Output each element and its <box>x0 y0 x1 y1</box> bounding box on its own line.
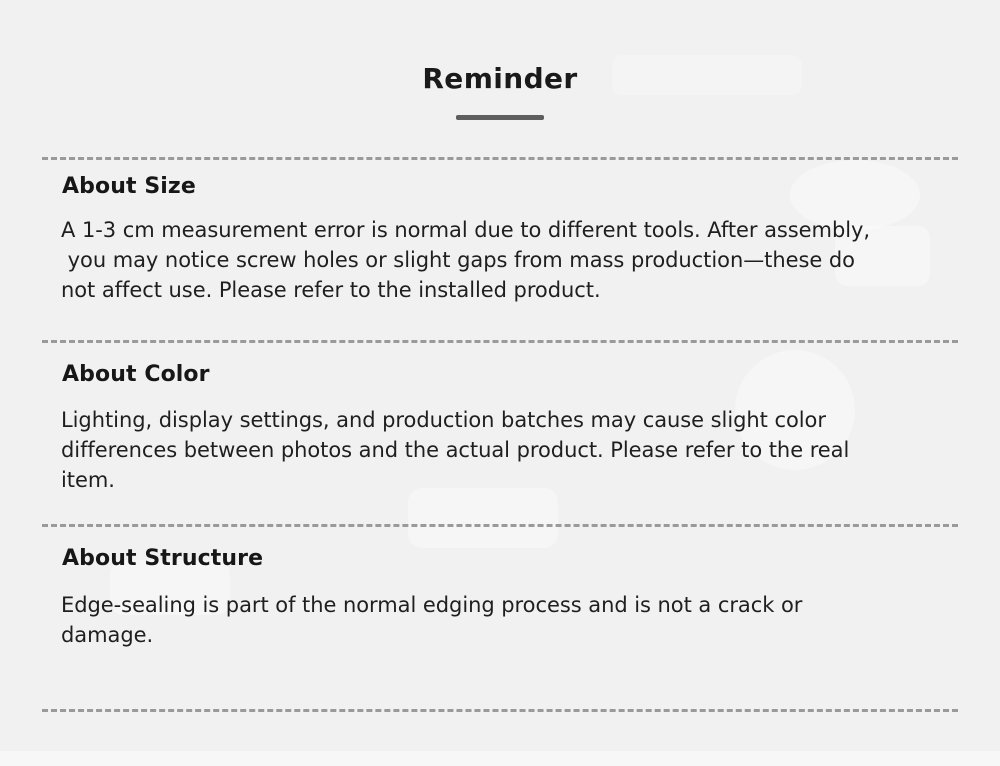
page-title-block: Reminder <box>0 62 1000 120</box>
section-body-about-size: A 1-3 cm measurement error is normal due… <box>61 215 951 305</box>
section-divider <box>42 709 958 712</box>
section-about-size: About Size A 1-3 cm measurement error is… <box>0 172 1000 305</box>
title-underline-rule <box>456 115 544 120</box>
section-heading-about-size: About Size <box>62 172 1000 202</box>
section-body-about-color: Lighting, display settings, and producti… <box>61 405 947 495</box>
section-heading-about-color: About Color <box>62 360 1000 390</box>
page-title: Reminder <box>0 62 1000 96</box>
bottom-edge-strip <box>0 751 1000 766</box>
section-about-color: About Color Lighting, display settings, … <box>0 360 1000 495</box>
background-watermark <box>408 488 558 548</box>
section-body-about-structure: Edge-sealing is part of the normal edgin… <box>61 590 947 650</box>
reminder-page: Reminder About Size A 1-3 cm measurement… <box>0 0 1000 766</box>
section-heading-about-structure: About Structure <box>62 544 1000 574</box>
section-about-structure: About Structure Edge-sealing is part of … <box>0 544 1000 650</box>
section-divider <box>42 524 958 527</box>
section-divider <box>42 340 958 343</box>
section-divider <box>42 157 958 160</box>
